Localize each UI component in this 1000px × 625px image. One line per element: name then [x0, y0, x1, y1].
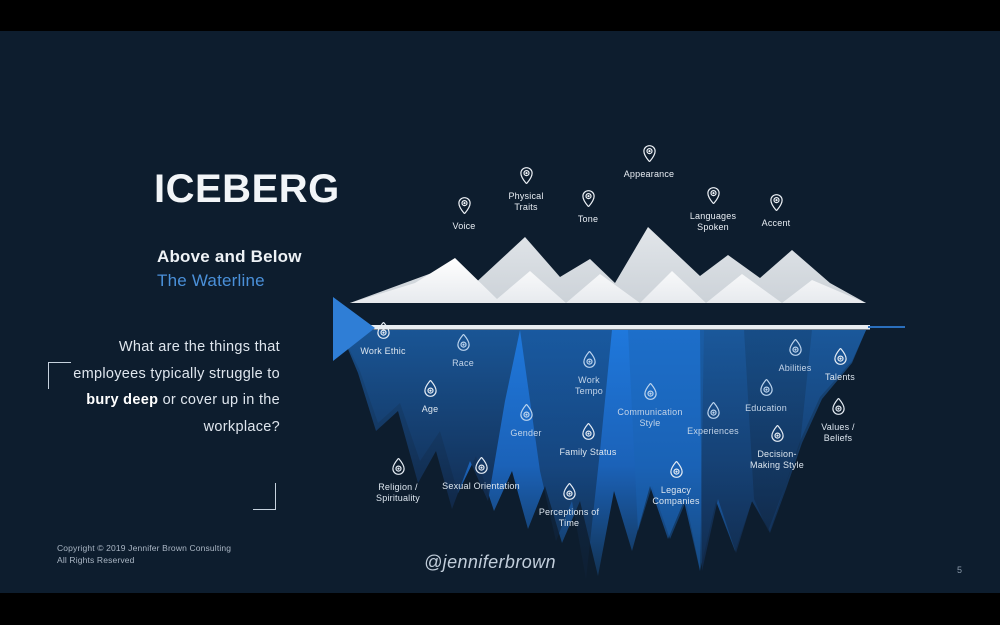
slide-stage: ICEBERG Above and Below The Waterline Wh… [0, 31, 1000, 593]
marker-legacy-companies[interactable]: Legacy Companies [616, 461, 736, 507]
quote-text: What are the things that employees typic… [48, 334, 288, 440]
map-pin-icon [589, 145, 709, 167]
slide-canvas: ICEBERG Above and Below The Waterline Wh… [0, 0, 1000, 625]
marker-label: Perceptions of Time [509, 507, 629, 529]
inverted-droplet-pin-icon [509, 483, 629, 505]
inverted-droplet-pin-icon [529, 351, 649, 373]
marker-perceptions-of-time[interactable]: Perceptions of Time [509, 483, 629, 529]
inverted-droplet-pin-icon [403, 334, 523, 356]
inverted-droplet-pin-icon [717, 425, 837, 447]
marker-label: Accent [716, 218, 836, 229]
marker-tone[interactable]: Tone [528, 190, 648, 225]
marker-appearance[interactable]: Appearance [589, 145, 709, 180]
marker-talents[interactable]: Talents [780, 348, 900, 383]
letterbox-top [0, 0, 1000, 31]
page-number: 5 [957, 565, 962, 575]
subtitle-line-1: Above and Below [157, 247, 302, 267]
marker-label: Race [403, 358, 523, 369]
inverted-droplet-pin-icon [421, 457, 541, 479]
marker-race[interactable]: Race [403, 334, 523, 369]
marker-label: Voice [404, 221, 524, 232]
marker-family-status[interactable]: Family Status [528, 423, 648, 458]
marker-accent[interactable]: Accent [716, 194, 836, 229]
map-pin-icon [528, 190, 648, 212]
iceberg-illustration [0, 31, 1000, 593]
social-handle: @jenniferbrown [424, 552, 556, 573]
copyright-line-2: All Rights Reserved [57, 555, 231, 567]
subtitle-line-2: The Waterline [157, 271, 265, 291]
copyright-line-1: Copyright © 2019 Jennifer Brown Consulti… [57, 543, 231, 555]
quote-block: What are the things that employees typic… [48, 334, 288, 440]
map-pin-icon [466, 167, 586, 189]
marker-label: Family Status [528, 447, 648, 458]
marker-label: Tone [528, 214, 648, 225]
inverted-droplet-pin-icon [780, 348, 900, 370]
letterbox-bottom [0, 593, 1000, 625]
map-pin-icon [716, 194, 836, 216]
inverted-droplet-pin-icon [528, 423, 648, 445]
page-title: ICEBERG [154, 167, 340, 212]
bracket-bottom-right [253, 483, 276, 510]
copyright-notice: Copyright © 2019 Jennifer Brown Consulti… [57, 543, 231, 566]
inverted-droplet-pin-icon [778, 398, 898, 420]
inverted-droplet-pin-icon [370, 380, 490, 402]
inverted-droplet-pin-icon [616, 461, 736, 483]
marker-label: Legacy Companies [616, 485, 736, 507]
marker-label: Appearance [589, 169, 709, 180]
